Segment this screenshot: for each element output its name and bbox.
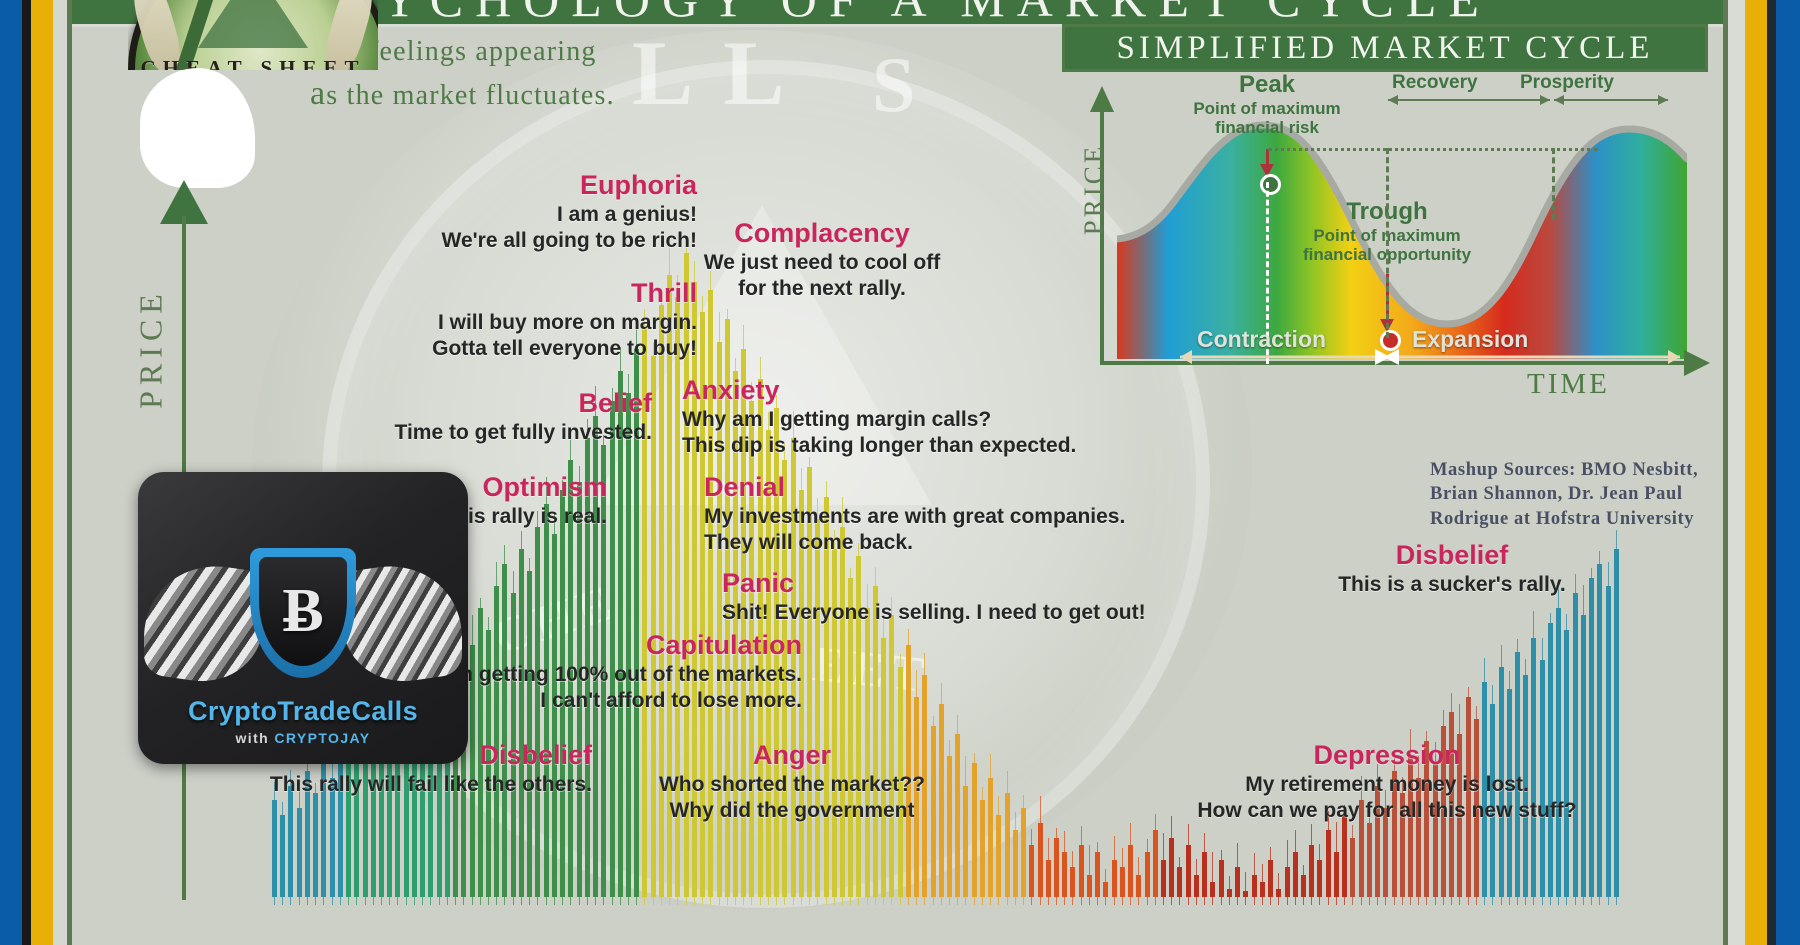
smc-expansion-label: Expansion [1412,326,1528,353]
annotation-anger-title: Anger [602,740,982,772]
logo-with-label: with [235,730,269,746]
smc-price-axis-label: PRICE [1079,120,1110,260]
smc-header: SIMPLIFIED MARKET CYCLE [1062,24,1708,72]
smc-top-guide [1268,148,1598,151]
smc-peak-title: Peak [1162,72,1372,99]
simplified-market-cycle-panel: SIMPLIFIED MARKET CYCLE PRICE [1072,24,1717,444]
candlestick [1054,838,1059,897]
smc-peak-sub2: financial risk [1162,118,1372,137]
annotation-complacency-line1: We just need to cool off [704,251,940,274]
price-axis-label: PRICE [133,254,170,444]
wing-left-icon [144,556,264,691]
sources-line-2: Brian Shannon, Dr. Jean Paul [1430,482,1723,506]
annotation-denial-line2: They will come back. [704,531,913,554]
smc-time-axis-arrow-icon [1684,350,1710,376]
annotation-disbelief-left-line1: This rally will fail like the others. [270,773,592,796]
logo-name: CryptoTradeCalls [138,696,468,727]
candlestick [1029,845,1034,897]
annotation-anxiety-line2: This dip is taking longer than expected. [682,434,1076,457]
annotation-anger-line1: Who shorted the market?? [659,773,925,796]
candlestick [288,786,293,897]
frame-band-pale-right [1728,0,1745,945]
annotation-depression-line1: My retirement money is lost. [1245,773,1529,796]
cheat-sheet-seal-icon: CHEAT SHEET [128,0,378,70]
annotation-anger-line2: Why did the government [669,799,914,822]
candlestick [1087,875,1092,897]
candlestick [1079,845,1084,897]
smc-prosperity-guide [1552,148,1555,220]
frame-band-dark-right [1767,0,1776,945]
annotation-capitulation-line2: I can't afford to lose more. [540,689,802,712]
annotation-anger: Anger Who shorted the market?? Why did t… [602,740,982,945]
annotation-euphoria: Euphoria I am a genius! We're all going … [252,170,697,255]
annotation-denial-line1: My investments are with great companies. [704,505,1125,528]
annotation-anxiety-line1: Why am I getting margin calls? [682,408,991,431]
smc-contraction-label: Contraction [1197,326,1326,353]
frame-band-pale-left [53,0,67,945]
candlestick [1046,860,1051,897]
logo-subtitle: with CRYPTOJAY [138,730,468,746]
mashup-sources: Mashup Sources: BMO Nesbitt, Brian Shann… [1430,458,1723,531]
frame-band-gold-right [1745,0,1767,945]
smc-peak-dot [1260,174,1281,195]
annotation-denial-title: Denial [704,472,1234,504]
annotation-denial: Denial My investments are with great com… [704,472,1234,557]
frame-band-blue-right [1776,0,1800,945]
frame-band-blue-left [0,0,22,945]
annotation-belief: Belief Time to get fully invested. [202,388,652,446]
annotation-belief-line1: Time to get fully invested. [395,421,653,444]
patreon-blob-icon [140,68,255,188]
smc-peak-label: Peak Point of maximum financial risk [1162,72,1372,137]
candlestick [272,800,277,896]
candlestick [1038,823,1043,897]
wing-right-icon [342,556,462,691]
smc-time-axis-label: TIME [1527,368,1610,401]
candlestick [1095,852,1100,896]
watermark-letter-l: L L [632,20,791,126]
annotation-euphoria-title: Euphoria [252,170,697,202]
annotation-capitulation-line1: I'm getting 100% out of the markets. [443,663,802,686]
annotation-thrill-title: Thrill [232,278,697,310]
smc-trough-dot [1380,330,1401,351]
annotation-panic-line1: Shit! Everyone is selling. I need to get… [722,601,1146,624]
watermark-letter-s: S [872,40,921,130]
smc-prosperity-label: Prosperity [1520,72,1614,94]
annotation-depression-title: Depression [1122,740,1652,772]
shield-inner: Ƀ [259,557,347,666]
poster-canvas: L L S CHE EET PSYCHOLOGY OF A MARKET CYC… [72,0,1723,945]
candlestick [552,534,557,897]
cryptotradecalls-logo[interactable]: Ƀ CryptoTradeCalls with CRYPTOJAY [138,472,468,764]
annotation-complacency-title: Complacency [637,218,1007,250]
smc-recovery-label: Recovery [1392,72,1478,94]
sources-line-3: Rodrigue at Hofstra University [1430,507,1723,531]
candlestick [502,564,507,897]
candlestick [527,571,532,897]
annotation-complacency-line2: for the next rally. [738,277,906,300]
shield-icon: Ƀ [250,548,356,678]
candlestick [1013,830,1018,897]
smc-trough-guide [1386,148,1389,338]
annotation-disbelief-right-line1: This is a sucker's rally. [1338,573,1566,596]
annotation-depression: Depression My retirement money is lost. … [1122,740,1652,945]
candlestick [1070,867,1075,897]
page-title: PSYCHOLOGY OF A MARKET CYCLE [302,0,1491,27]
frame-band-gold-left [31,0,53,945]
subtitle-line-2: as the market fluctuates. [310,72,615,116]
candlestick [313,793,318,897]
candlestick [1112,860,1117,897]
seal-label: CHEAT SHEET [128,56,378,70]
candlestick [1103,882,1108,897]
annotation-depression-line2: How can we pay for all this new stuff? [1197,799,1576,822]
logo-handle: CRYPTOJAY [274,730,370,746]
annotation-disbelief-right-title: Disbelief [1252,540,1652,572]
annotation-belief-title: Belief [202,388,652,420]
annotation-panic-title: Panic [722,568,1282,600]
frame-band-dark-left [22,0,31,945]
bitcoin-symbol-icon: Ƀ [282,576,323,647]
seal-pyramid-icon [198,0,308,48]
sources-line-1: Mashup Sources: BMO Nesbitt, [1430,458,1723,482]
candlestick [280,815,285,896]
annotation-thrill: Thrill I will buy more on margin. Gotta … [232,278,697,363]
candlestick [1021,808,1026,897]
annotation-panic: Panic Shit! Everyone is selling. I need … [722,568,1282,626]
candlestick [297,808,302,897]
candlestick [519,549,524,897]
candlestick [1062,852,1067,896]
smc-header-label: SIMPLIFIED MARKET CYCLE [1117,30,1654,67]
smc-peak-sub1: Point of maximum [1162,99,1372,118]
poster-root: L L S CHE EET PSYCHOLOGY OF A MARKET CYC… [0,0,1800,945]
smc-time-axis [1100,361,1688,365]
